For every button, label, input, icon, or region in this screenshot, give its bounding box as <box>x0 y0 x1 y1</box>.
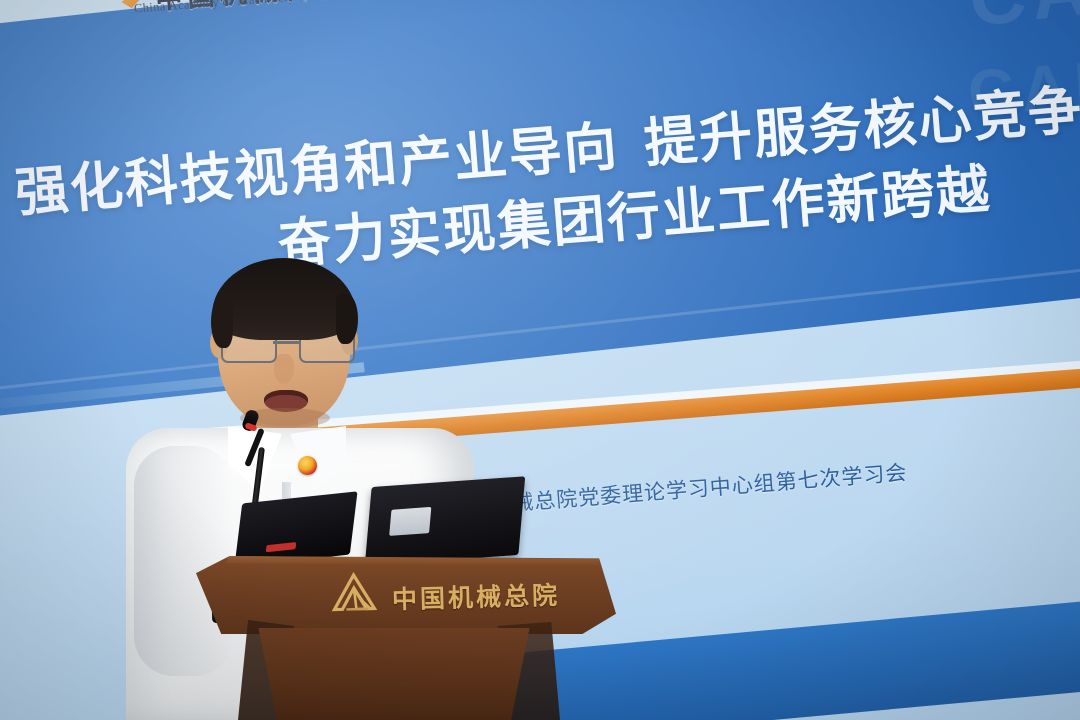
laptop-secondary-indicator <box>266 542 297 552</box>
black-laptop-open <box>365 476 526 565</box>
headline-spacer <box>620 162 646 164</box>
speaker-hair-left <box>211 296 233 348</box>
glasses-bridge <box>273 341 299 344</box>
mountain-triangle-logo-icon <box>329 571 382 612</box>
shirt-shading <box>134 446 234 676</box>
slide-subtitle: 机械总院党委理论学习中心组第七次学习会 <box>489 457 908 520</box>
screenshot-stage: CAM 中国机械科学研究总院集团 China Academy of Machin… <box>0 0 1080 720</box>
podium-column <box>240 628 548 720</box>
speaker-hair <box>212 258 356 340</box>
white-asset-tag-sticker <box>389 507 431 536</box>
party-emblem-badge-icon <box>298 456 317 475</box>
podium-brand-label: 中国机械总院 <box>392 576 561 616</box>
banner-watermark: CAM <box>964 0 1080 45</box>
black-laptop-closed <box>234 491 357 566</box>
speaker-hair-right <box>336 294 358 344</box>
